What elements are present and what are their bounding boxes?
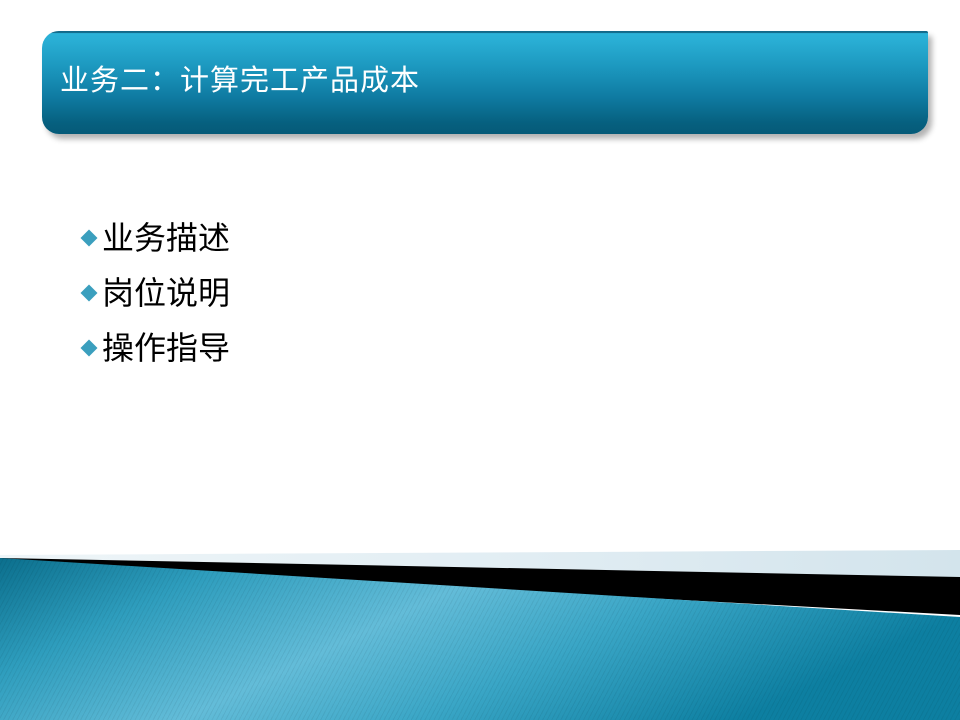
slide-canvas: 业务二：计算完工产品成本 业务描述 岗位说明 操作指导 [0, 0, 960, 720]
bullet-list: 业务描述 岗位说明 操作指导 [80, 210, 680, 375]
title-banner: 业务二：计算完工产品成本 [42, 31, 928, 134]
slide-title: 业务二：计算完工产品成本 [60, 62, 420, 98]
decor-shapes [0, 525, 960, 720]
list-item: 业务描述 [80, 210, 680, 265]
bullet-item-label: 岗位说明 [102, 275, 230, 311]
bullet-item-label: 业务描述 [102, 220, 230, 256]
diamond-bullet-icon [80, 284, 98, 302]
list-item: 岗位说明 [80, 265, 680, 320]
diamond-bullet-icon [80, 229, 98, 247]
list-item: 操作指导 [80, 320, 680, 375]
bottom-decoration [0, 525, 960, 720]
diamond-bullet-icon [80, 339, 98, 357]
bullet-item-label: 操作指导 [102, 330, 230, 366]
